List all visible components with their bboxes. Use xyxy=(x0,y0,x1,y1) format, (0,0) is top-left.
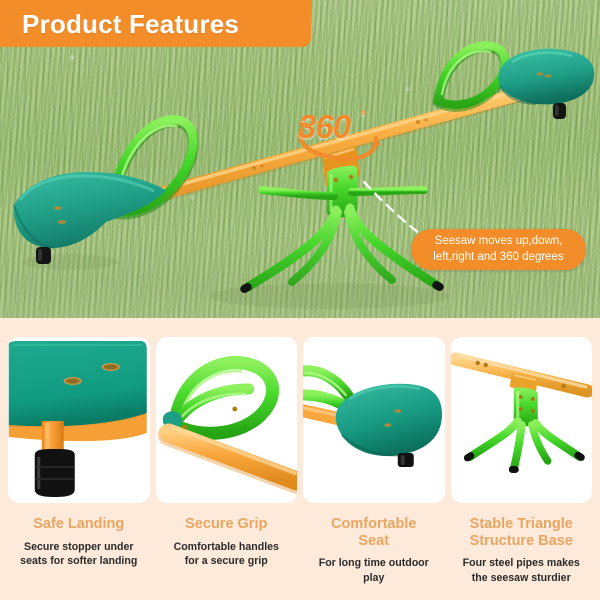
badge-degree-symbol: ° xyxy=(360,108,366,125)
caption-title: Secure Grip xyxy=(156,516,298,533)
callout-line-2: left,right and 360 degrees xyxy=(433,251,563,263)
caption-title-line-2: Structure Base xyxy=(470,533,573,549)
caption-body-line-1: For long time outdoor play xyxy=(319,557,429,584)
product-features-infographic: Product Features 360 ° Seesaw moves up,d… xyxy=(0,0,600,600)
caption-comfortable-seat: Comfortable Seat For long time outdoor p… xyxy=(303,516,445,600)
feature-panels xyxy=(0,318,600,518)
caption-body: For long time outdoor play xyxy=(303,556,445,585)
rotation-360-badge: 360 ° xyxy=(292,104,384,170)
caption-body-line-1: Four steel pipes makes xyxy=(463,557,580,569)
caption-body: Comfortable handles for a secure grip xyxy=(156,540,298,569)
caption-body-line-2: for a secure grip xyxy=(185,555,268,567)
caption-body: Four steel pipes makes the seesaw sturdi… xyxy=(451,556,593,585)
caption-title-line-2: Seat xyxy=(358,533,389,549)
handle-grip-image xyxy=(156,337,298,503)
right-seat-stopper xyxy=(553,103,566,119)
feature-panel-stable-base xyxy=(451,337,593,503)
page-title: Product Features xyxy=(0,11,239,37)
hero-section: Product Features 360 ° Seesaw moves up,d… xyxy=(0,0,600,318)
feature-panel-secure-grip xyxy=(156,337,298,503)
caption-body-line-2: seats for softer landing xyxy=(20,555,137,567)
left-seat-stopper xyxy=(36,247,51,264)
badge-value: 360 xyxy=(298,110,350,143)
seat-underside-image xyxy=(8,337,150,503)
caption-title: Stable Triangle Structure Base xyxy=(451,516,593,549)
caption-body-line-2: the seesaw sturdier xyxy=(472,572,571,584)
base-structure-image xyxy=(451,337,593,503)
caption-body-line-1: Secure stopper under xyxy=(24,541,134,553)
caption-title-line-1: Comfortable xyxy=(331,516,416,532)
callout-line-1: Seesaw moves up,down, xyxy=(435,235,563,247)
caption-stable-base: Stable Triangle Structure Base Four stee… xyxy=(451,516,593,600)
feature-panel-comfortable-seat xyxy=(303,337,445,503)
caption-secure-grip: Secure Grip Comfortable handles for a se… xyxy=(156,516,298,600)
callout-bubble: Seesaw moves up,down, left,right and 360… xyxy=(411,229,586,270)
banner: Product Features xyxy=(0,0,311,47)
caption-title-line-1: Stable Triangle xyxy=(470,516,573,532)
comfortable-seat-image xyxy=(303,337,445,503)
right-seat xyxy=(498,49,594,105)
caption-title: Safe Landing xyxy=(8,516,150,533)
caption-body: Secure stopper under seats for softer la… xyxy=(8,540,150,569)
feature-captions: Safe Landing Secure stopper under seats … xyxy=(0,516,600,600)
caption-title: Comfortable Seat xyxy=(303,516,445,549)
feature-panel-safe-landing xyxy=(8,337,150,503)
caption-safe-landing: Safe Landing Secure stopper under seats … xyxy=(8,516,150,600)
callout-text: Seesaw moves up,down, left,right and 360… xyxy=(424,234,572,264)
caption-body-line-1: Comfortable handles xyxy=(174,541,279,553)
